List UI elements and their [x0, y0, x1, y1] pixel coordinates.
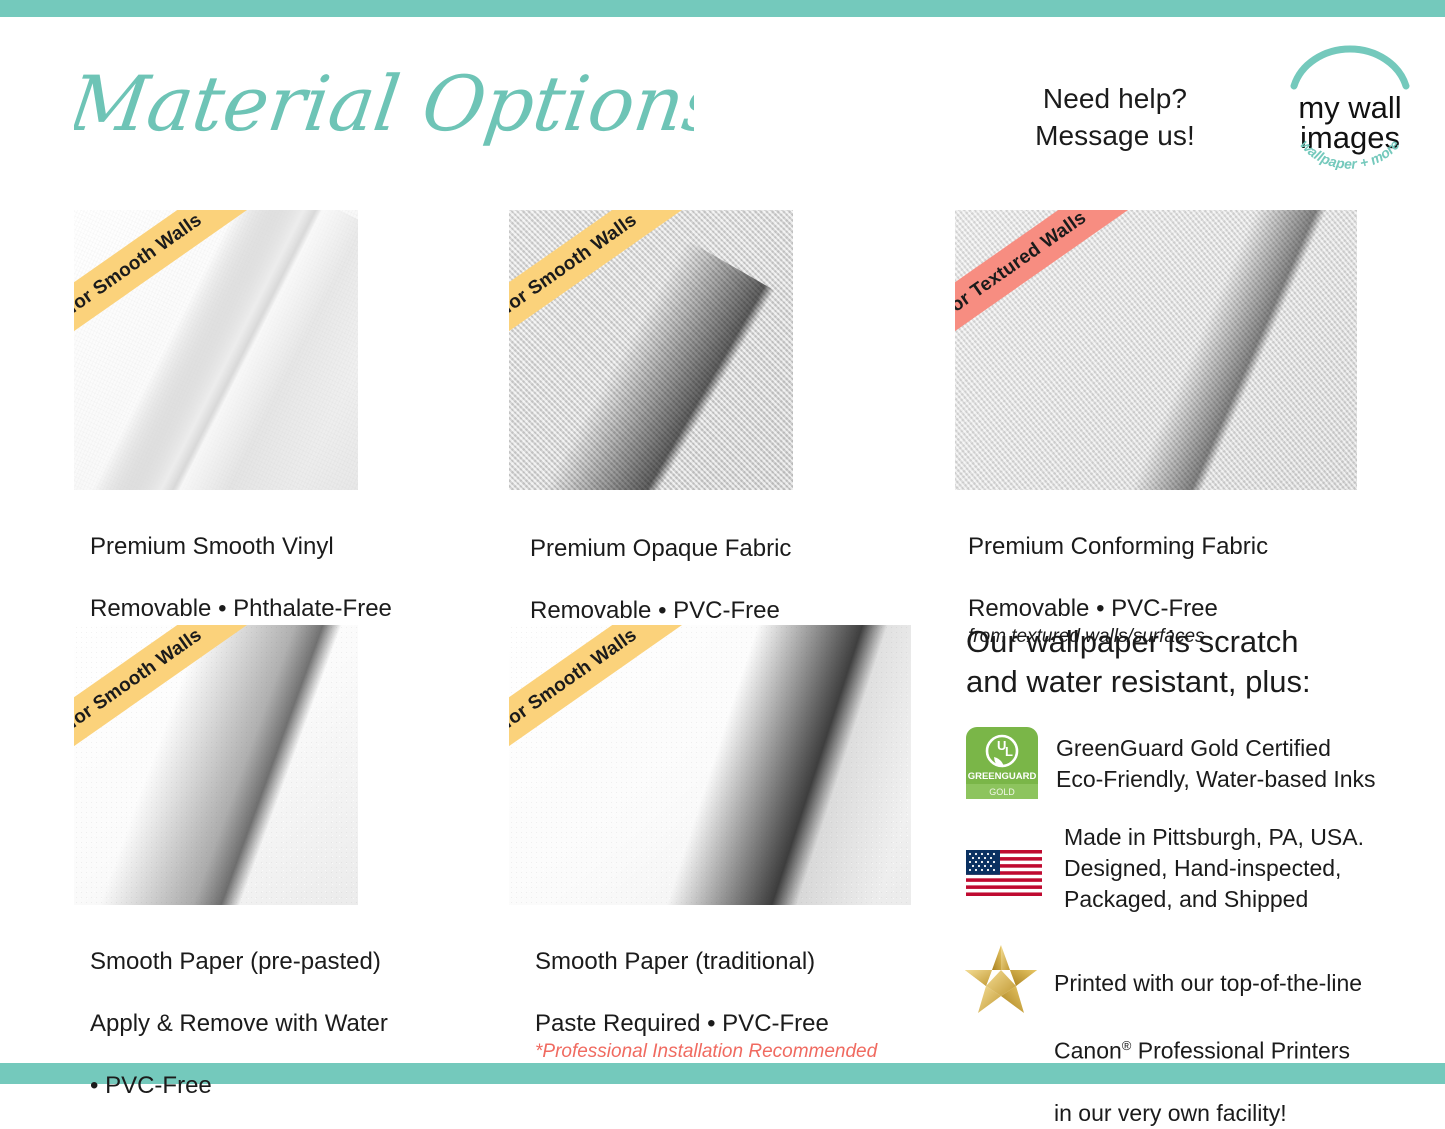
material-description-fabric: Premium Opaque Fabric Removable • PVC-Fr…	[530, 502, 791, 626]
feature-made-in-usa-text: Made in Pittsburgh, PA, USA. Designed, H…	[1064, 822, 1364, 915]
desc-line-2: Paste Required • PVC-Free	[535, 1010, 829, 1037]
page-title: Material Options	[74, 48, 694, 158]
material-card-water-activated[interactable]: for Smooth Walls PRE-PASTED WATER ACTIVA…	[74, 625, 358, 905]
usa-flag-icon	[966, 850, 1042, 901]
canon-line-1: Printed with our top-of-the-line	[1054, 970, 1362, 996]
feature-greenguard-text: GreenGuard Gold Certified Eco-Friendly, …	[1056, 727, 1376, 795]
svg-text:L: L	[1005, 744, 1013, 759]
greenguard-label: GREENGUARD	[968, 771, 1037, 782]
material-description-traditional: Smooth Paper (traditional) Paste Require…	[535, 915, 877, 1095]
features-heading: Our wallpaper is scratch and water resis…	[966, 622, 1386, 702]
desc-line-3: • PVC-Free	[90, 1072, 212, 1099]
need-help-block: Need help? Message us!	[1005, 80, 1225, 154]
canon-line-3: in our very own facility!	[1054, 1100, 1287, 1126]
desc-note-professional-install: *Professional Installation Recommended	[535, 1039, 877, 1064]
desc-line-2: Removable • Phthalate-Free	[90, 595, 392, 622]
desc-line-2: Apply & Remove with Water	[90, 1010, 388, 1037]
top-accent-bar	[0, 0, 1445, 17]
logo-arc-icon	[1294, 49, 1406, 86]
material-card-high-tack[interactable]: for Textured Walls PEEL & STICK HIGH TAC…	[955, 210, 1357, 490]
desc-line-1: Smooth Paper (pre-pasted)	[90, 948, 381, 975]
material-card-fabric[interactable]: for Smooth Walls PEEL & STICK FABRIC	[509, 210, 793, 490]
brand-logo[interactable]: my wall images wallpaper + more	[1280, 38, 1420, 170]
material-description-smooth: Premium Smooth Vinyl Removable • Phthala…	[90, 500, 392, 624]
feature-greenguard: U L GREENGUARD GOLD GreenGuard Gold Cert…	[966, 727, 1376, 804]
page-title-text: Material Options	[74, 60, 694, 149]
need-help-line-2: Message us!	[1005, 117, 1225, 154]
canon-line-2a: Canon	[1054, 1038, 1122, 1064]
registered-trademark-icon: ®	[1122, 1038, 1132, 1053]
greenguard-gold-label: GOLD	[989, 787, 1015, 797]
feature-made-in-usa: Made in Pittsburgh, PA, USA. Designed, H…	[966, 822, 1364, 915]
feature-canon-printers: Printed with our top-of-the-line Canon® …	[962, 935, 1362, 1129]
feature-canon-printers-text: Printed with our top-of-the-line Canon® …	[1054, 935, 1362, 1129]
desc-line-2: Removable • PVC-Free	[530, 597, 780, 624]
gold-star-icon	[962, 941, 1040, 1022]
greenguard-gold-badge-icon: U L GREENGUARD GOLD	[966, 727, 1038, 804]
desc-line-1: Premium Conforming Fabric	[968, 533, 1268, 560]
material-card-smooth[interactable]: for Smooth Walls PEEL & STICK SMOOTH	[74, 210, 358, 490]
desc-line-1: Smooth Paper (traditional)	[535, 948, 815, 975]
desc-line-1: Premium Smooth Vinyl	[90, 533, 334, 560]
need-help-line-1: Need help?	[1005, 80, 1225, 117]
material-card-traditional[interactable]: for Smooth Walls UNPASTED TRADITIONAL*	[509, 625, 911, 905]
canon-line-2b: Professional Printers	[1131, 1038, 1350, 1064]
material-options-infographic: Material Options Need help? Message us! …	[0, 0, 1445, 1084]
desc-line-1: Premium Opaque Fabric	[530, 535, 791, 562]
material-description-water-activated: Smooth Paper (pre-pasted) Apply & Remove…	[90, 915, 388, 1101]
desc-line-2: Removable • PVC-Free	[968, 595, 1218, 622]
